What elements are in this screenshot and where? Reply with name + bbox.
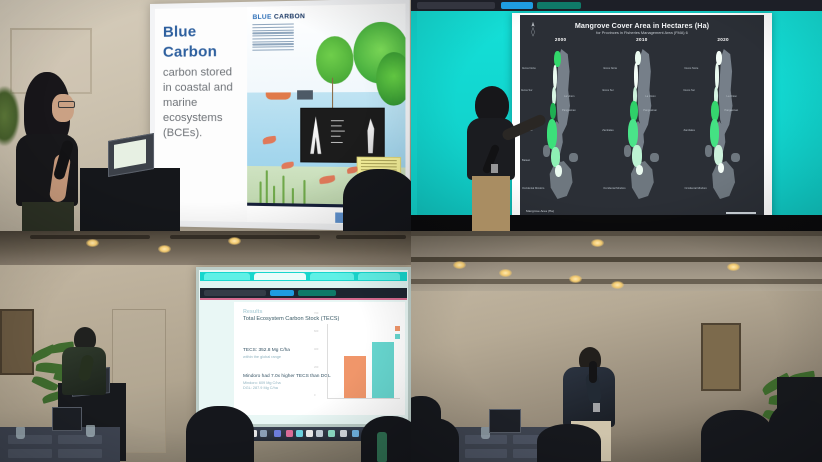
mangrove-silhouette-2 [364,118,379,153]
browser-tab-strip [200,272,407,281]
slide-bullet-1: TECS: 352.8 Mg C/ha within the global ra… [243,348,290,359]
bullet-1-sub: within the global range [243,355,290,359]
map-label: La Union [564,95,574,98]
pane-mangrove-map: Mangrove Cover Area in Hectares (Ha) for… [411,0,822,231]
address-bar[interactable] [417,2,495,9]
glasses-icon [58,101,75,108]
infographic-text-lines [252,23,294,52]
taskbar-icon[interactable] [340,430,347,437]
pane-tecs-results: Results Total Ecosystem Carbon Stock (TE… [0,231,411,462]
audience-head [768,400,822,462]
map-label: Occidental Mindoro [685,187,707,190]
tecs-bar-chart: 700 600 400 200 0 [314,324,400,399]
map-label: Occidental Mindoro [522,187,544,190]
boat-icon [266,93,291,100]
infographic-heading-blue: BLUE [252,14,271,22]
taskbar-icon[interactable] [352,430,359,437]
mangrove-map-slide: Mangrove Cover Area in Hectares (Ha) for… [520,15,764,223]
browser-tab[interactable] [310,273,354,280]
legend-title: Mangrove Area (Ha) [526,209,632,213]
second-laptop [489,409,521,433]
browser-tab[interactable] [358,273,400,280]
taskbar-icon[interactable] [274,430,281,437]
pane-blue-carbon: Blue Carbon carbon stored in coastal and… [0,0,411,231]
compass-north-icon [529,21,537,37]
tree-trunk [332,77,334,108]
slide-eyebrow: Results [243,309,262,315]
wall-artwork [701,323,741,391]
browser-button-primary[interactable] [270,290,294,296]
downlight [86,239,99,247]
audience-head [411,418,459,462]
map-label: Occidental Mindoro [603,187,625,190]
water-glass [86,425,95,437]
map-label: Ilocos Norte [603,67,617,70]
bullet-1-text: TECS: 352.8 Mg C/ha [243,348,290,353]
pane-introduction: Introduction Mangroves in FMA 6 play a c… [411,231,822,462]
downlight [453,261,466,269]
browser-button-primary[interactable] [501,2,533,9]
browser-button-secondary[interactable] [537,2,581,9]
infographic-heading: BLUE CARBON [252,13,305,21]
taskbar-icon[interactable] [286,430,293,437]
speaker-skirt [22,202,74,231]
map-label: Zambales [684,129,695,132]
second-laptop [52,407,82,431]
speaker-presenter [461,86,523,231]
downlight [228,237,241,245]
map-label: Bataan [522,159,530,162]
mangrove-silhouette [306,116,326,154]
wall-artwork [0,309,34,375]
downlight [499,269,512,277]
map-panel-year-3: 2020 Ilocos Norte Ilocos Sur [683,37,764,205]
tecs-slide: Results Total Ecosystem Carbon Stock (TE… [234,302,405,415]
ship-icon [297,91,313,100]
map-year-label: 2000 [520,37,601,42]
accent-divider [200,298,407,300]
podium-desk [80,168,180,231]
infographic-heading-dark: CARBON [274,13,305,21]
projection-screen-tecs: Results Total Ecosystem Carbon Stock (TE… [196,267,411,427]
water-bottle [377,432,387,462]
slide-title: Total Ecosystem Carbon Stock (TECS) [243,316,339,322]
ceiling [0,231,411,265]
browser-url-bar [200,288,407,298]
speaker-face [52,94,74,122]
map-label: Zambales [602,129,613,132]
browser-nav-bar[interactable] [200,281,407,288]
downlight [569,275,582,283]
map-panel-year-2: 2010 Ilocos Norte Ilocos Sur [601,37,682,205]
map-label: Ilocos Norte [685,67,699,70]
map-subtitle: for Provinces in Fisheries Management Ar… [520,30,764,35]
downlight [591,239,604,247]
taskbar-icon[interactable] [306,430,313,437]
chart-bar-dgl [344,356,366,398]
microphone-icon [589,361,597,383]
map-label: Ilocos Sur [602,89,614,92]
map-year-label: 2010 [601,37,682,42]
browser-toolbar [411,0,822,11]
projection-screen-map: Mangrove Cover Area in Hectares (Ha) for… [512,13,772,225]
chart-legend-swatch [395,326,400,331]
taskbar-icon[interactable] [316,430,323,437]
downlight [727,263,740,271]
map-label: Pangasinan [725,109,739,112]
audience-head [186,406,254,462]
map-label: Ilocos Norte [522,67,536,70]
downlight [158,245,171,253]
browser-button-secondary[interactable] [298,290,336,296]
audience-head-right [343,169,411,231]
mangrove-photo-panel [300,108,385,163]
chart-legend-swatch-2 [395,334,400,339]
map-label: La Union [645,95,655,98]
slide-title-line1: Blue [163,21,241,42]
address-bar[interactable] [204,290,266,296]
audience-head [537,424,601,462]
downlight [611,281,624,289]
id-badge [491,164,498,173]
map-year-label: 2020 [683,37,764,42]
map-label: La Union [727,95,737,98]
map-label: Pangasinan [643,109,657,112]
id-badge [593,403,600,412]
map-label: Ilocos Sur [684,89,696,92]
taskbar-icon[interactable] [296,430,303,437]
slide-body-text: carbon stored in coastal and marine ecos… [163,65,241,141]
mangrove-canopy-icon-2 [376,52,405,105]
browser-tab[interactable] [204,273,250,280]
audience-head [701,410,773,462]
slide-title-line2: Carbon [163,42,241,63]
map-label: Pangasinan [562,109,576,112]
chart-bar-mindoro [372,342,394,398]
map-title: Mangrove Cover Area in Hectares (Ha) [520,21,764,30]
taskbar-icon[interactable] [328,430,335,437]
water-glass [16,427,25,439]
photo-collage: Blue Carbon carbon stored in coastal and… [0,0,822,462]
browser-tab-active[interactable] [254,273,306,280]
taskbar-icon[interactable] [260,430,267,437]
tree-canopy-icon [316,35,354,84]
